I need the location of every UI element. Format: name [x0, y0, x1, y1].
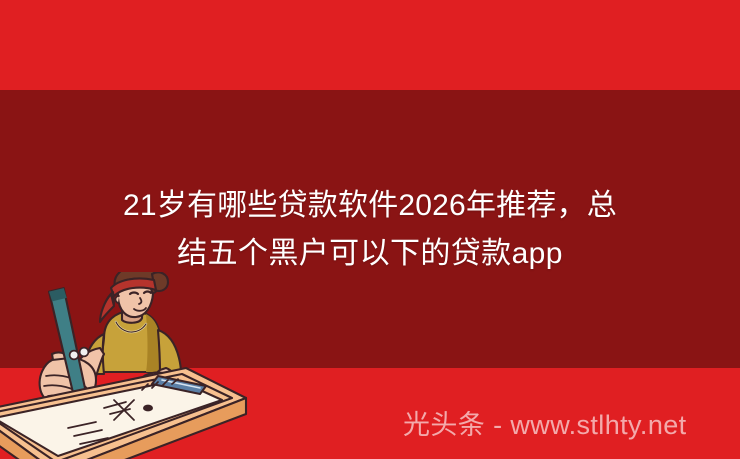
cover-title-line-1: 21岁有哪些贷款软件2026年推荐，总 [20, 182, 720, 230]
site-watermark: 光头条 - www.stlhty.net [403, 408, 687, 442]
background-band-top [0, 0, 740, 90]
cover-canvas: 21岁有哪些贷款软件2026年推荐，总 结五个黑户可以下的贷款app 光头条 -… [0, 0, 740, 459]
cover-title: 21岁有哪些贷款软件2026年推荐，总 结五个黑户可以下的贷款app [20, 182, 720, 278]
cover-title-line-2: 结五个黑户可以下的贷款app [20, 230, 720, 278]
illustration-person-drawing [0, 272, 260, 459]
person-head [100, 272, 168, 323]
drafting-table [0, 368, 246, 459]
